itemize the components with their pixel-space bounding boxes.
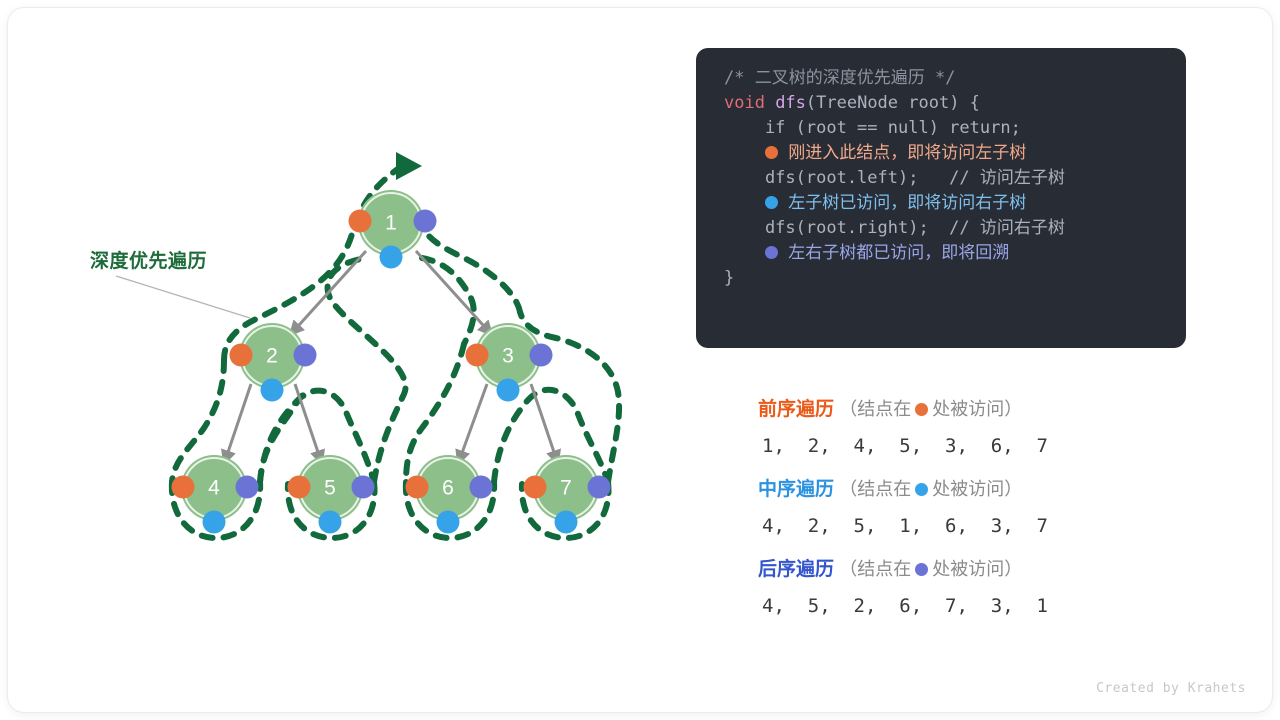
- edge-2-4: [224, 384, 251, 464]
- node-3-preorder-dot: [466, 344, 489, 367]
- code-dfs-right-line: dfs(root.right); // 访问右子树: [724, 218, 1065, 238]
- result-block-inorder: 中序遍历 （结点在处被访问） 4, 2, 5, 1, 6, 3, 7: [758, 474, 1188, 547]
- tree-node-3[interactable]: 3: [466, 323, 553, 402]
- postorder-marker-dot-icon: [915, 563, 928, 576]
- annotation-leader-line: [116, 276, 250, 318]
- node-6-preorder-dot: [406, 476, 429, 499]
- node-3-postorder-dot: [530, 344, 553, 367]
- code-comment-line: /* 二叉树的深度优先遍历 */: [724, 68, 955, 88]
- node-2-postorder-dot: [294, 344, 317, 367]
- node-3-label: 3: [502, 345, 514, 368]
- inorder-paren-open: （结点在: [839, 479, 911, 499]
- node-6-label: 6: [442, 477, 454, 500]
- postorder-title: 后序遍历: [758, 559, 834, 580]
- node-7-inorder-dot: [555, 511, 578, 534]
- node-3-inorder-dot: [497, 379, 520, 402]
- code-closing-brace: }: [724, 268, 734, 288]
- preorder-paren-close: 处被访问）: [932, 399, 1022, 419]
- tree-diagram-svg: 1 2 3: [8, 8, 688, 712]
- credit-text: Created by Krahets: [1096, 681, 1246, 696]
- dfs-annotation-label: 深度优先遍历: [90, 246, 207, 273]
- node-1-postorder-dot: [414, 210, 437, 233]
- node-1-preorder-dot: [349, 210, 372, 233]
- inorder-dot-icon: [765, 196, 778, 209]
- node-4-label: 4: [208, 477, 220, 500]
- node-4-preorder-dot: [172, 476, 195, 499]
- node-1-label: 1: [385, 212, 397, 235]
- code-note-preorder: 刚进入此结点，即将访问左子树: [788, 143, 1026, 163]
- traversal-results: 前序遍历 （结点在处被访问） 1, 2, 4, 5, 3, 6, 7 中序遍历 …: [758, 394, 1188, 634]
- node-7-preorder-dot: [524, 476, 547, 499]
- node-4-postorder-dot: [236, 476, 259, 499]
- preorder-dot-icon: [765, 146, 778, 159]
- node-5-postorder-dot: [352, 476, 375, 499]
- inorder-title: 中序遍历: [758, 479, 834, 500]
- code-guard-line: if (root == null) return;: [724, 118, 1021, 138]
- inorder-marker-dot-icon: [915, 483, 928, 496]
- inorder-heading: 中序遍历 （结点在处被访问）: [758, 474, 1188, 505]
- code-note-postorder: 左右子树都已访问，即将回溯: [788, 243, 1009, 263]
- node-6-inorder-dot: [437, 511, 460, 534]
- preorder-title: 前序遍历: [758, 399, 834, 420]
- result-block-postorder: 后序遍历 （结点在处被访问） 4, 5, 2, 6, 7, 3, 1: [758, 554, 1188, 627]
- edge-3-6: [458, 384, 487, 464]
- page-canvas: 1 2 3: [8, 8, 1272, 712]
- code-dfs-left-line: dfs(root.left); // 访问左子树: [724, 168, 1065, 188]
- node-2-inorder-dot: [261, 379, 284, 402]
- node-5-label: 5: [324, 477, 336, 500]
- node-5-preorder-dot: [288, 476, 311, 499]
- node-5-inorder-dot: [319, 511, 342, 534]
- code-block: /* 二叉树的深度优先遍历 */ void dfs(TreeNode root)…: [724, 66, 1186, 291]
- preorder-sequence: 1, 2, 4, 5, 3, 6, 7: [758, 425, 1188, 467]
- node-2-preorder-dot: [230, 344, 253, 367]
- inorder-paren-close: 处被访问）: [932, 479, 1022, 499]
- inorder-sequence: 4, 2, 5, 1, 6, 3, 7: [758, 505, 1188, 547]
- edge-1-3: [416, 251, 492, 335]
- code-note-inorder: 左子树已访问，即将访问右子树: [788, 193, 1026, 213]
- edge-3-7: [531, 384, 558, 464]
- node-2-label: 2: [266, 345, 278, 368]
- node-7-postorder-dot: [588, 476, 611, 499]
- postorder-paren-open: （结点在: [839, 559, 911, 579]
- postorder-heading: 后序遍历 （结点在处被访问）: [758, 554, 1188, 585]
- start-play-triangle-icon: [396, 152, 422, 180]
- edge-2-5: [295, 384, 322, 464]
- preorder-marker-dot-icon: [915, 403, 928, 416]
- node-1-inorder-dot: [380, 246, 403, 269]
- preorder-heading: 前序遍历 （结点在处被访问）: [758, 394, 1188, 425]
- postorder-dot-icon: [765, 246, 778, 259]
- tree-figure: 1 2 3: [8, 8, 688, 712]
- code-snippet-card: /* 二叉树的深度优先遍历 */ void dfs(TreeNode root)…: [696, 48, 1186, 348]
- preorder-paren-open: （结点在: [839, 399, 911, 419]
- node-4-inorder-dot: [203, 511, 226, 534]
- node-6-postorder-dot: [470, 476, 493, 499]
- code-signature-rest: (TreeNode root) {: [806, 93, 980, 113]
- postorder-sequence: 4, 5, 2, 6, 7, 3, 1: [758, 585, 1188, 627]
- code-keyword-void: void: [724, 93, 765, 113]
- result-block-preorder: 前序遍历 （结点在处被访问） 1, 2, 4, 5, 3, 6, 7: [758, 394, 1188, 467]
- code-function-name: dfs: [765, 93, 806, 113]
- node-7-label: 7: [560, 477, 572, 500]
- postorder-paren-close: 处被访问）: [932, 559, 1022, 579]
- tree-node-2[interactable]: 2: [230, 323, 317, 402]
